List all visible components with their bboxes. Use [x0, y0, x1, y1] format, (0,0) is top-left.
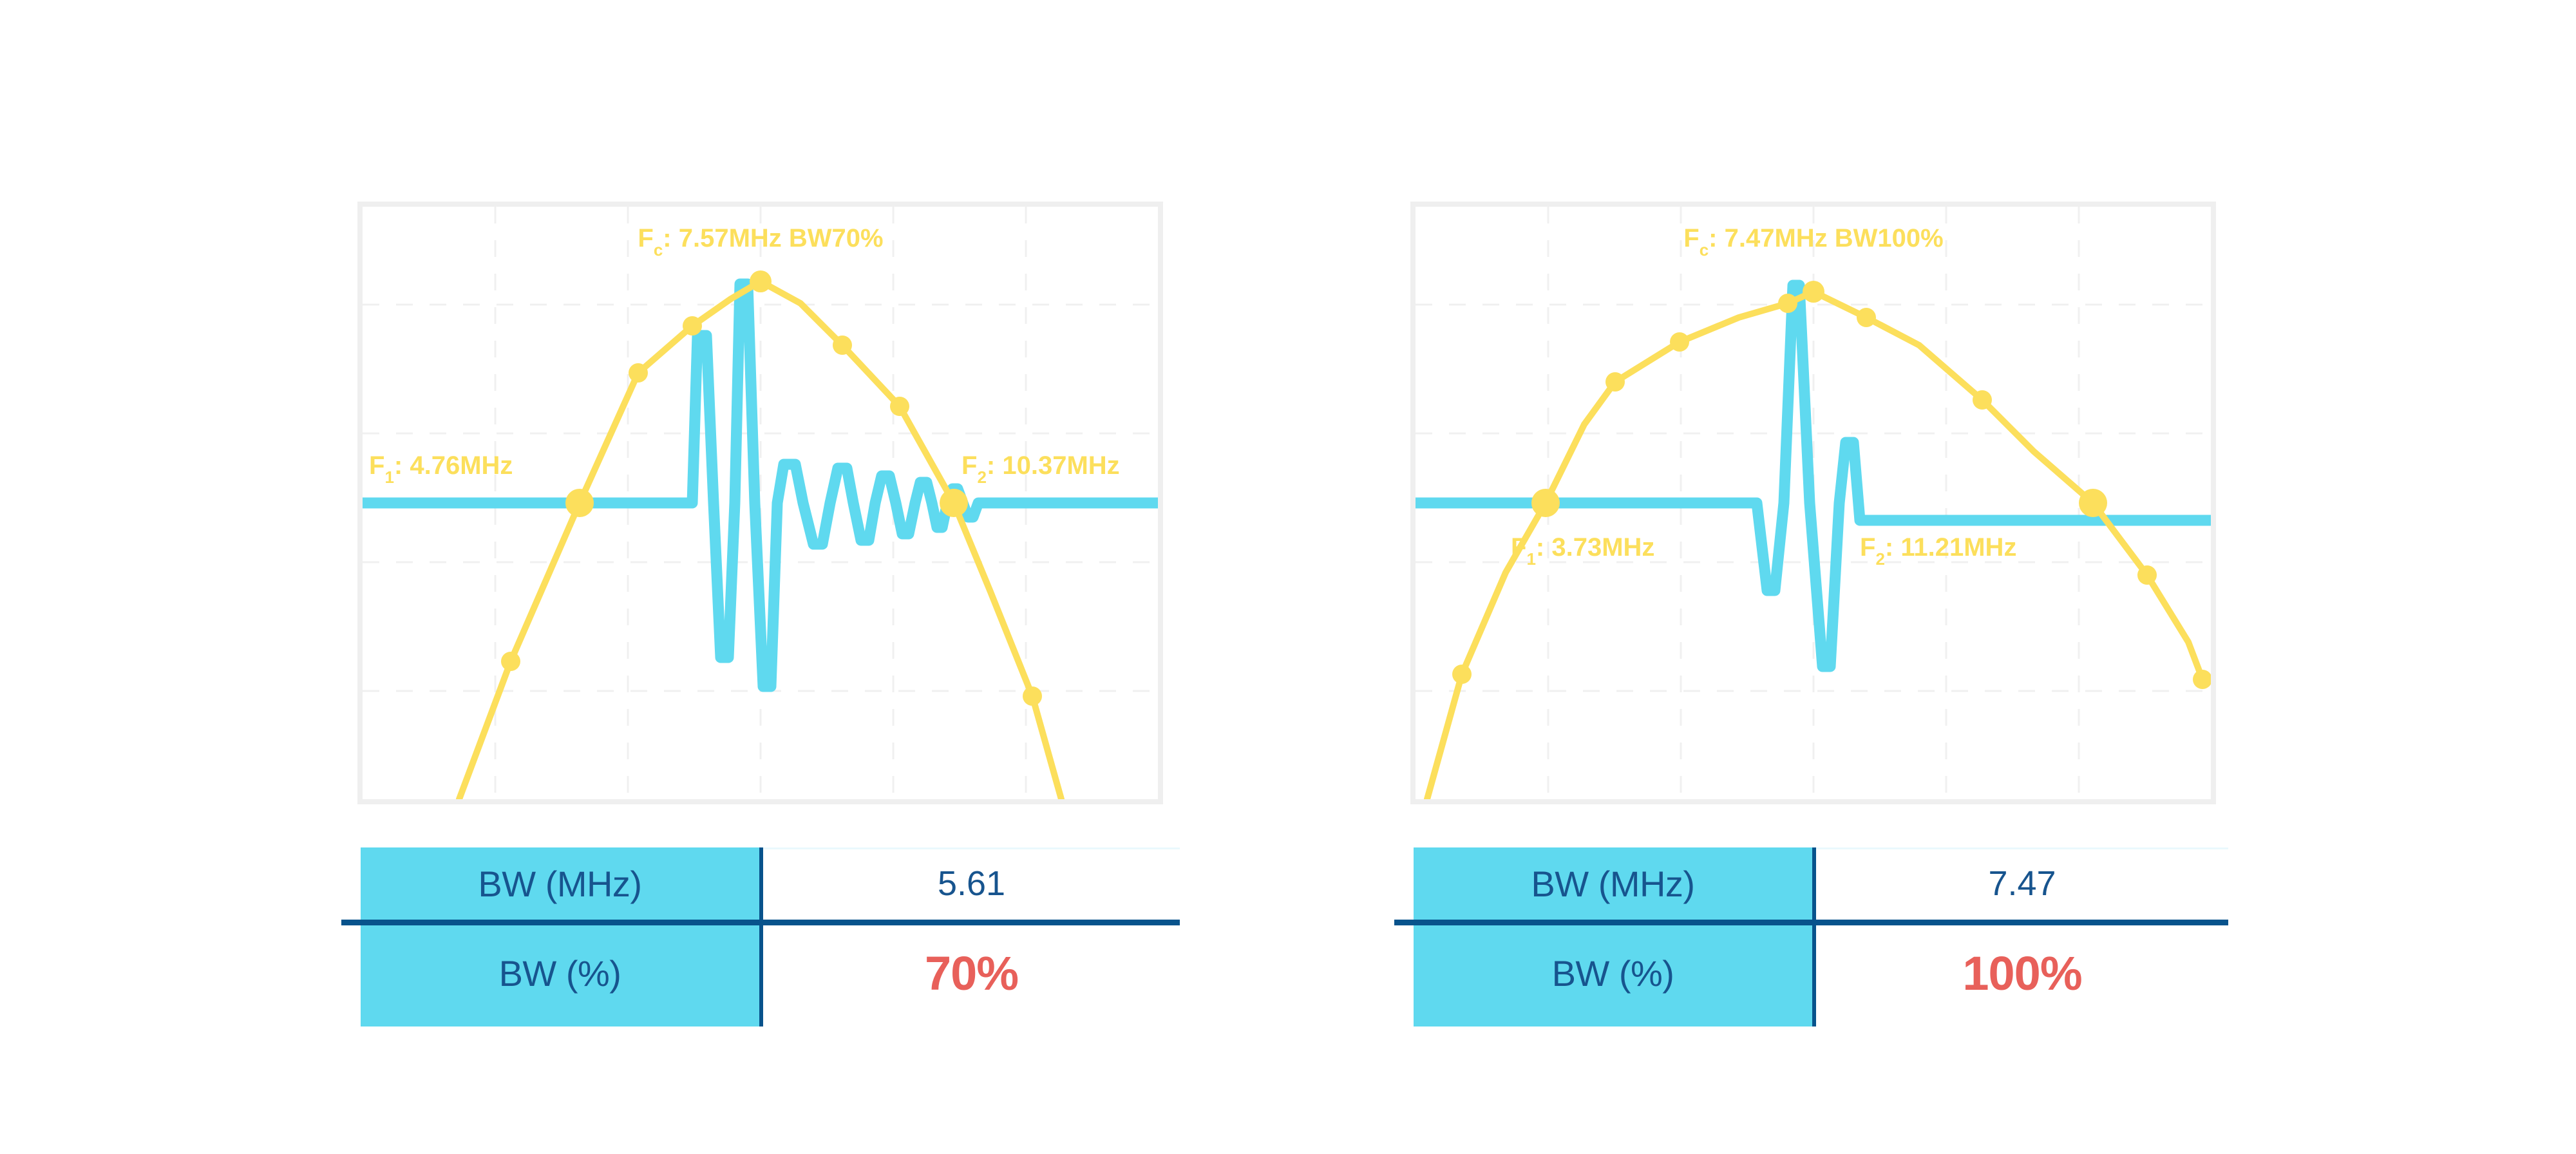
panel-left: Fc: 7.57MHz BW70% F1: 4.76MHz F2: 10.37M…	[357, 202, 1163, 804]
table-row: BW (%) 100%	[1414, 920, 2228, 1026]
bw-mhz-value-left: 5.61	[938, 864, 1005, 903]
label-f1-right: F1: 3.73MHz	[1511, 533, 1654, 569]
bw-mhz-label-right: BW (MHz)	[1414, 847, 1816, 920]
chart-frame-left: Fc: 7.57MHz BW70% F1: 4.76MHz F2: 10.37M…	[357, 202, 1163, 804]
label-center-prefix-left: F	[638, 224, 653, 252]
bw-table-right: BW (MHz) 7.47 BW (%) 100%	[1414, 847, 2228, 1028]
label-f1-prefix-left: F	[369, 451, 384, 480]
bw-mhz-value-cell-left: 5.61	[763, 847, 1180, 920]
chart-svg-right: Fc: 7.47MHz BW100% F1: 3.73MHz F2: 11.21…	[1416, 207, 2211, 799]
bw-percent-value-cell-right: 100%	[1816, 920, 2228, 1026]
table-top-hairline-right	[1816, 847, 2228, 849]
table-row: BW (MHz) 7.47	[1414, 847, 2228, 920]
label-f2-text-left: : 10.37MHz	[987, 451, 1120, 480]
bw-percent-label-right: BW (%)	[1414, 920, 1816, 1026]
chart-frame-right: Fc: 7.47MHz BW100% F1: 3.73MHz F2: 11.21…	[1410, 202, 2216, 804]
bw-mhz-value-right: 7.47	[1988, 864, 2056, 903]
label-f1-text-left: : 4.76MHz	[394, 451, 513, 480]
page-root: Fc: 7.57MHz BW70% F1: 4.76MHz F2: 10.37M…	[0, 0, 2576, 1154]
bw-percent-value-right: 100%	[1962, 946, 2081, 1001]
label-f1-text-right: : 3.73MHz	[1536, 533, 1655, 562]
label-f2-prefix-right: F	[1860, 533, 1875, 562]
label-center-text-right: : 7.47MHz BW100%	[1709, 224, 1944, 252]
label-f2-sub-left: 2	[977, 468, 986, 487]
bw-percent-label-left: BW (%)	[361, 920, 763, 1026]
label-center-text-left: : 7.57MHz BW70%	[663, 224, 883, 252]
panel-right: Fc: 7.47MHz BW100% F1: 3.73MHz F2: 11.21…	[1410, 202, 2216, 804]
label-f1-prefix-right: F	[1511, 533, 1526, 562]
label-f2-right: F2: 11.21MHz	[1860, 533, 2016, 569]
chart-plot-area-right: Fc: 7.47MHz BW100% F1: 3.73MHz F2: 11.21…	[1416, 207, 2211, 799]
chart-svg-left: Fc: 7.57MHz BW70% F1: 4.76MHz F2: 10.37M…	[363, 207, 1158, 799]
label-center-prefix-right: F	[1683, 224, 1699, 252]
bw-percent-value-left: 70%	[925, 946, 1018, 1001]
bw-percent-value-cell-left: 70%	[763, 920, 1180, 1026]
table-row-divider-left	[341, 920, 1180, 925]
label-f2-prefix-left: F	[961, 451, 977, 480]
label-f1-sub-right: 1	[1526, 549, 1535, 569]
label-f2-text-right: : 11.21MHz	[1885, 533, 2017, 562]
label-f2-sub-right: 2	[1875, 549, 1884, 569]
bw-mhz-value-cell-right: 7.47	[1816, 847, 2228, 920]
table-row: BW (MHz) 5.61	[361, 847, 1180, 920]
label-f2-left: F2: 10.37MHz	[961, 451, 1120, 487]
chart-plot-area-left: Fc: 7.57MHz BW70% F1: 4.76MHz F2: 10.37M…	[363, 207, 1158, 799]
label-center-sub-left: c	[654, 240, 663, 260]
bw-mhz-label-left: BW (MHz)	[361, 847, 763, 920]
label-center-sub-right: c	[1700, 240, 1709, 260]
table-row-divider-right	[1394, 920, 2228, 925]
label-f1-sub-left: 1	[384, 468, 393, 487]
bw-table-left: BW (MHz) 5.61 BW (%) 70%	[361, 847, 1180, 1028]
label-f1-left: F1: 4.76MHz	[369, 451, 513, 487]
table-top-hairline-left	[763, 847, 1180, 849]
table-row: BW (%) 70%	[361, 920, 1180, 1026]
